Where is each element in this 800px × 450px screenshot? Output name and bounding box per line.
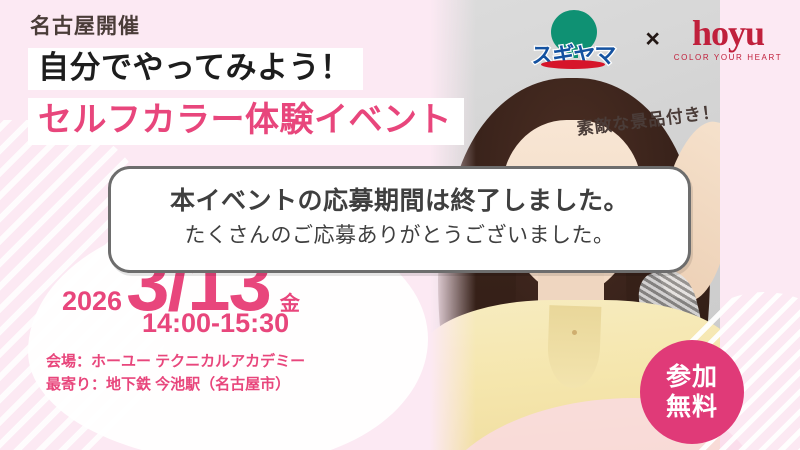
sugiyama-logo-base-ellipse xyxy=(541,60,605,69)
notice-subtext: たくさんのご応募ありがとうございました。 xyxy=(129,221,670,251)
event-banner: 名古屋開催 自分でやってみよう！ セルフカラー体験イベント スギヤマ × hoy… xyxy=(0,0,800,450)
title-line-2: セルフカラー体験イベント xyxy=(28,98,464,145)
venue-line: 会場：ホーユー テクニカルアカデミー xyxy=(46,350,305,373)
hoyu-logo: hoyu COLOR YOUR HEART xyxy=(672,16,784,62)
nearest-station-line: 最寄り：地下鉄 今池駅（名古屋市） xyxy=(46,373,305,396)
badge-line-1: 参加 xyxy=(666,362,718,392)
hoyu-logo-tagline: COLOR YOUR HEART xyxy=(672,53,784,62)
title-line-1: 自分でやってみよう！ xyxy=(28,48,363,90)
logo-separator-x: × xyxy=(645,25,660,54)
event-venue-info: 会場：ホーユー テクニカルアカデミー 最寄り：地下鉄 今池駅（名古屋市） xyxy=(46,350,305,397)
application-closed-notice: 本イベントの応募期間は終了しました。 たくさんのご応募ありがとうございました。 xyxy=(108,166,691,273)
sugiyama-logo: スギヤマ xyxy=(513,8,633,70)
event-time: 14:00-15:30 xyxy=(142,308,289,339)
model-necklace xyxy=(572,330,577,335)
hoyu-logo-text: hoyu xyxy=(672,16,784,50)
location-kicker: 名古屋開催 xyxy=(30,10,140,40)
partner-logos: スギヤマ × hoyu COLOR YOUR HEART xyxy=(513,8,784,70)
badge-line-2: 無料 xyxy=(666,392,718,422)
free-participation-badge: 参加 無料 xyxy=(640,340,744,444)
notice-headline: 本イベントの応募期間は終了しました。 xyxy=(129,183,670,219)
event-year: 2026 xyxy=(62,286,122,317)
